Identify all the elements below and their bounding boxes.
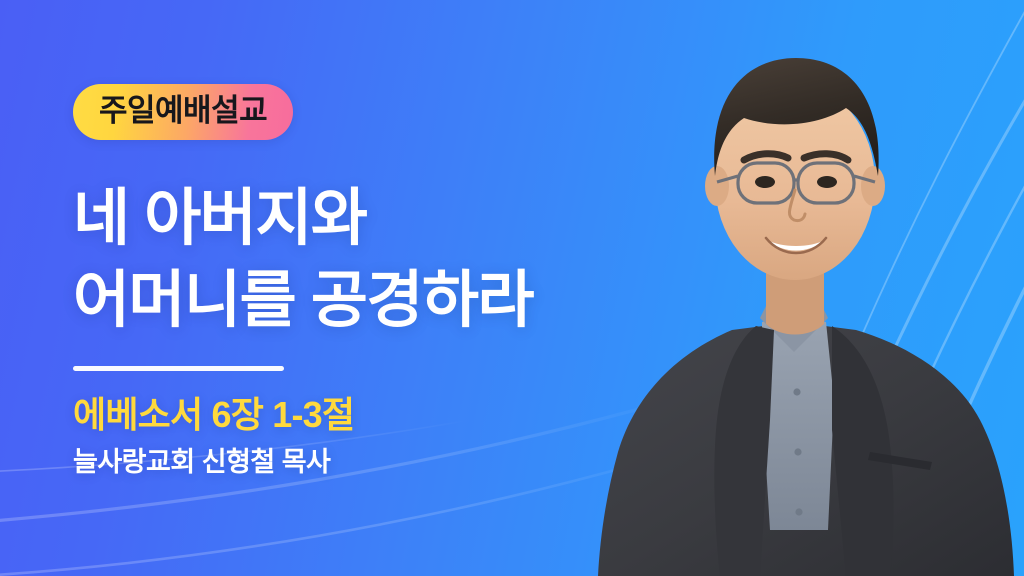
page-title: 네 아버지와 어머니를 공경하라 (73, 178, 533, 342)
text-column: 주일예배설교 네 아버지와 어머니를 공경하라 에베소서 6장 1-3절 늘사랑… (73, 0, 673, 576)
thumbnail-canvas: 주일예배설교 네 아버지와 어머니를 공경하라 에베소서 6장 1-3절 늘사랑… (0, 0, 1024, 576)
title-line-1: 네 아버지와 (73, 178, 533, 260)
horizontal-rule (73, 366, 284, 371)
title-line-2: 어머니를 공경하라 (73, 260, 533, 342)
scripture-reference: 에베소서 6장 1-3절 (73, 392, 354, 437)
category-badge: 주일예배설교 (73, 84, 293, 140)
category-badge-label: 주일예배설교 (99, 95, 267, 126)
head (705, 58, 885, 280)
speaker-byline: 늘사랑교회 신형철 목사 (73, 446, 330, 480)
